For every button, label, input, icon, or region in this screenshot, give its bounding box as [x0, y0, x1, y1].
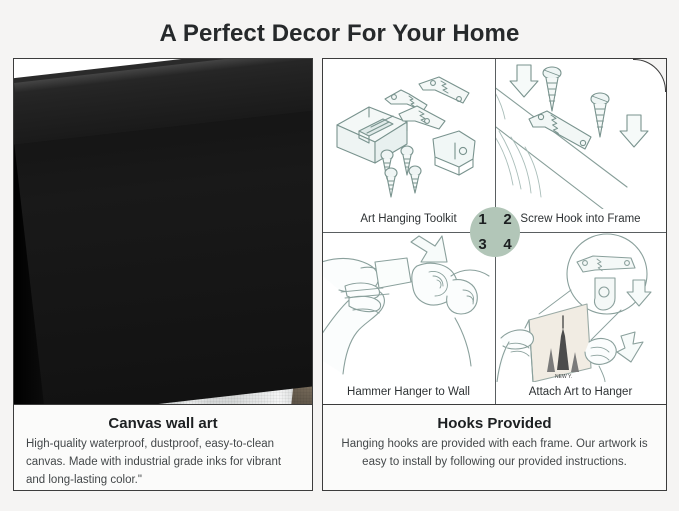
instruction-step-3: Hammer Hanger to Wall [323, 232, 494, 404]
canvas-caption-title: Canvas wall art [26, 415, 300, 432]
instruction-grid: Art Hanging Toolkit [323, 59, 666, 404]
hooks-provided-panel: Art Hanging Toolkit [322, 58, 667, 491]
toolkit-box-sawtooth-hangers-screws-bracket-icon [323, 59, 494, 209]
hooks-caption-title: Hooks Provided [335, 415, 654, 432]
step-number-4: 4 [495, 232, 520, 257]
step-number-badge: 1 2 3 4 [470, 207, 520, 257]
hands-hammering-wall-hanger-icon [323, 232, 494, 382]
canvas-frame-photo [14, 59, 312, 404]
hooks-caption-body: Hanging hooks are provided with each fra… [335, 436, 654, 472]
step-number-2: 2 [495, 207, 520, 232]
page-title: A Perfect Decor For Your Home [0, 20, 679, 48]
hooks-caption: Hooks Provided Hanging hooks are provide… [323, 404, 666, 490]
step-number-3: 3 [470, 232, 495, 257]
instruction-step-1-label: Art Hanging Toolkit [323, 213, 494, 225]
step-number-1: 1 [470, 207, 495, 232]
instruction-step-4-label: Attach Art to Hanger [495, 386, 666, 398]
svg-text:NEW Y.: NEW Y. [555, 374, 572, 380]
canvas-wall-art-panel: Canvas wall art High-quality waterproof,… [13, 58, 313, 491]
instruction-step-1: Art Hanging Toolkit [323, 59, 494, 231]
canvas-caption-body: High-quality waterproof, dustproof, easy… [26, 436, 300, 489]
instruction-step-2-label: Screw Hook into Frame [495, 213, 666, 225]
canvas-caption: Canvas wall art High-quality waterproof,… [14, 404, 312, 490]
instruction-step-4: NEW Y. Attach Art to Hanger [495, 232, 666, 404]
instruction-step-3-label: Hammer Hanger to Wall [323, 386, 494, 398]
hands-hanging-canvas-on-hook-with-zoom-detail-icon: NEW Y. [495, 232, 666, 382]
